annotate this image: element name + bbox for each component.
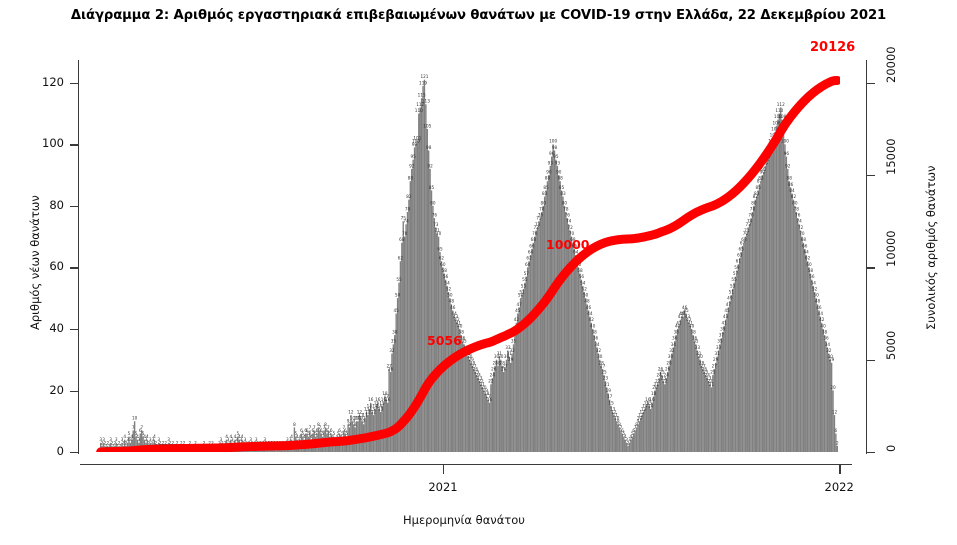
bar [735,277,736,452]
bar-value-label: 85 [559,185,565,190]
bar [480,384,481,452]
bar [469,360,470,452]
bar-value-label: 59 [734,265,740,270]
bar-value-label: 25 [710,369,716,374]
bar-value-label: 6 [835,428,838,433]
bar-value-label: 4 [130,434,133,439]
annotation-20126: 20126 [810,40,855,55]
bar-value-label: 13 [378,406,384,411]
bar-value-label: 74 [403,219,409,224]
bar-value-label: 19 [606,388,612,393]
bar [755,200,756,452]
bar [808,267,809,452]
bar [637,424,638,452]
bar [388,369,389,452]
chart-root: Διάγραμμα 2: Αριθμός εργαστηριακά επιβεβ… [0,0,957,545]
bar [374,409,375,452]
bar-value-label: 40 [689,323,695,328]
bar [584,292,585,452]
bar [640,418,641,452]
bar [837,446,838,452]
bar [528,261,529,452]
bar-value-label: 12 [832,409,838,414]
bar [811,280,812,452]
bar [828,354,829,452]
bar [627,446,628,452]
y-axis-right-title: Συνολικός αριθμός θανάτων [924,166,938,330]
bar [801,237,802,452]
bar-value-label: 74 [566,219,572,224]
bar [719,344,720,452]
x-axis-tick-label: 2022 [823,480,855,494]
bar [661,375,662,452]
bar-value-label: 32 [389,348,395,353]
bar [791,194,792,452]
bar [674,341,675,452]
bar-value-label: 72 [567,225,573,230]
bar [777,120,778,452]
bar [774,132,775,452]
bar [567,218,568,452]
bar [786,157,787,452]
bar [692,335,693,452]
bar [586,304,587,452]
bar [764,166,765,452]
bar-value-label: 88 [558,176,564,181]
bar-value-label: 47 [517,302,523,307]
bar [473,369,474,452]
bar [721,338,722,452]
bar-value-label: 100 [549,139,557,144]
bar-value-label: 35 [511,339,517,344]
bar-value-label: 85 [429,185,435,190]
bar-value-label: 86 [788,182,794,187]
bar-value-label: 47 [726,302,732,307]
bar-value-label: 34 [594,342,600,347]
bar-value-label: 110 [415,108,423,113]
bar-value-label: 8 [348,422,351,427]
bar-value-label: 88 [408,176,414,181]
bar [749,224,750,452]
bar [825,341,826,452]
bar-value-label: 55 [522,277,528,282]
bar [511,354,512,452]
bar-value-label: 95 [553,154,559,159]
bar [695,344,696,452]
bar-value-label: 35 [693,339,699,344]
bar [756,197,757,452]
bar [722,332,723,452]
bar-value-label: 57 [524,271,530,276]
bar-value-label: 38 [591,329,597,334]
bar [568,224,569,452]
bar [432,206,433,452]
bar-value-label: 35 [391,339,397,344]
bar [684,310,685,452]
bar [533,243,534,452]
y-axis-left-tick-label: 120 [24,75,64,89]
bar-value-label: 40 [820,323,826,328]
bar-value-label: 101 [413,136,421,141]
bar [685,314,686,452]
bar [506,360,507,452]
bar [651,403,652,452]
bar [800,230,801,452]
bar [644,409,645,452]
y-axis-right-tick-label: 0 [884,445,898,452]
bar [578,267,579,452]
bar [475,372,476,452]
bar-value-label: 12 [371,409,377,414]
bar-value-label: 50 [583,293,589,298]
bar [633,434,634,452]
bar [820,317,821,452]
bar [545,190,546,452]
bar [831,363,832,452]
bar-value-label: 56 [443,274,449,279]
bar [451,304,452,452]
bar [694,341,695,452]
bar [709,384,710,452]
bar-value-label: 32 [509,348,515,353]
bar-value-label: 115 [418,93,426,98]
bar [581,280,582,452]
y-axis-left-tick [70,452,78,453]
y-axis-left-tick-label: 20 [24,383,64,397]
bar [486,397,487,452]
bar [805,255,806,452]
x-axis-tick [839,465,840,474]
bar [369,409,370,452]
bar [743,243,744,452]
bar [557,166,558,452]
y-axis-left-tick [70,329,78,330]
bar [675,335,676,452]
bar [794,206,795,452]
bar-value-label: 43 [723,314,729,319]
bar [521,295,522,452]
bar [487,400,488,452]
bar [815,298,816,452]
bar [530,255,531,452]
bar [534,237,535,452]
page-title: Διάγραμμα 2: Αριθμός εργαστηριακά επιβεβ… [0,8,957,23]
bar [796,212,797,452]
y-axis-right-tick [867,267,875,268]
bar-value-label: 16 [487,397,493,402]
bar [555,160,556,452]
bar [643,412,644,452]
bar [677,329,678,452]
bar [558,175,559,452]
bar [726,314,727,452]
annotation-5056: 5056 [427,333,462,348]
bar-value-label: 98 [426,145,432,150]
bar-value-label: 93 [548,160,554,165]
bar-value-label: 36 [823,336,829,341]
bar-value-label: 62 [398,256,404,261]
bar-value-label: 54 [444,280,450,285]
y-axis-left-tick-label: 0 [24,444,64,458]
bar [639,421,640,452]
bar [649,406,650,452]
bar [733,283,734,452]
bar-value-label: 14 [648,403,654,408]
bar-value-label: 80 [541,200,547,205]
bar [817,304,818,452]
bar [582,286,583,452]
bar-value-label: 50 [447,293,453,298]
bar [803,243,804,452]
bar [718,350,719,452]
bar [554,150,555,452]
bar [666,378,667,452]
bar-value-label: 82 [791,194,797,199]
bar-value-label: 37 [719,333,725,338]
bar-value-label: 8 [354,422,357,427]
bar [468,357,469,452]
plot-area: 3232121321231213242353471054367543423234… [78,52,840,452]
bar [690,326,691,452]
bar-value-label: 10 [132,416,138,421]
bar-value-label: 25 [601,369,607,374]
bar-value-label: 92 [427,163,433,168]
bar [452,310,453,452]
bar-value-label: 93 [555,160,561,165]
bar-value-label: 110 [775,108,783,113]
bar [547,181,548,452]
bar [540,218,541,452]
bar-value-label: 50 [395,293,401,298]
bar [736,270,737,452]
bar [814,292,815,452]
bar-value-label: 95 [410,154,416,159]
bar-value-label: 78 [750,206,756,211]
bar [715,363,716,452]
bar-value-label: 35 [717,339,723,344]
bar [576,261,577,452]
bar-value-label: 26 [491,366,497,371]
bar [485,394,486,452]
y-axis-left-title: Αριθμός νέων θανάτων [28,195,42,330]
bar-value-label: 100 [781,139,789,144]
bar [753,206,754,452]
bar-value-label: 84 [789,188,795,193]
bar-value-label: 60 [440,262,446,267]
bar [592,329,593,452]
bar-value-label: 51 [729,289,735,294]
bar-value-label: 85 [543,185,549,190]
bar-value-label: 46 [816,305,822,310]
bar-value-label: 80 [792,200,798,205]
bar-value-label: 98 [552,145,558,150]
y-axis-left-tick [70,267,78,268]
bar [636,427,637,452]
bar-value-label: 20 [830,385,836,390]
bar [537,227,538,452]
bar [762,175,763,452]
bar [739,258,740,452]
bar-value-label: 4 [310,434,313,439]
bar [439,252,440,452]
bar [750,218,751,452]
x-axis-tick-label: 2021 [427,480,459,494]
bar [585,298,586,452]
bar [493,372,494,452]
annotation-10000: 10000 [546,237,590,252]
bar [509,357,510,452]
bar-value-label: 29 [508,357,514,362]
bar-value-label: 76 [565,213,571,218]
bar [680,320,681,452]
bar-value-label: 33 [695,345,701,350]
bar [742,246,743,452]
bar [759,184,760,452]
bar-value-label: 38 [690,329,696,334]
bar-value-label: 53 [730,283,736,288]
bar-value-label: 27 [502,363,508,368]
bar-value-label: 16 [649,397,655,402]
bar [746,234,747,452]
bar [494,366,495,452]
bar-value-label: 26 [388,366,394,371]
bar-value-label: 33 [716,345,722,350]
bar [472,366,473,452]
y-axis-right-tick [867,360,875,361]
bar [598,354,599,452]
bar-value-label: 41 [722,320,728,325]
bar [671,354,672,452]
bar-value-label: 41 [676,320,682,325]
bar-value-label: 83 [560,191,566,196]
bar [822,329,823,452]
bar [572,243,573,452]
bar [704,372,705,452]
bar [602,369,603,452]
bar [740,252,741,452]
bar [502,366,503,452]
bar [589,317,590,452]
bar [776,126,777,452]
bar [781,120,782,452]
bar [691,329,692,452]
bar-value-label: 48 [449,299,455,304]
bar-value-label: 48 [584,299,590,304]
bar-value-label: 23 [603,376,609,381]
bar [381,406,382,452]
bar [793,200,794,452]
y-axis-right-tick [867,175,875,176]
bar-value-label: 4 [303,434,306,439]
bar-value-label: 15 [608,400,614,405]
bar-value-label: 45 [394,308,400,313]
bar [617,424,618,452]
bar-value-label: 68 [741,237,747,242]
bar [760,181,761,452]
bar-value-label: 55 [731,277,737,282]
bar-value-label: 29 [829,357,835,362]
bar [442,267,443,452]
bar-value-label: 32 [669,348,675,353]
bar [779,114,780,452]
bar-value-label: 71 [744,228,750,233]
bar-value-label: 88 [758,176,764,181]
bar [588,310,589,452]
bar-value-label: 119 [419,80,427,85]
bar [523,289,524,452]
bar-value-label: 78 [563,206,569,211]
bar [752,212,753,452]
bar [708,381,709,452]
bar-value-label: 46 [586,305,592,310]
bar-value-label: 22 [662,379,668,384]
bar [772,144,773,452]
bar-value-label: 42 [514,317,520,322]
bar-value-label: 76 [538,213,544,218]
bar-value-label: 70 [569,231,575,236]
bar [551,157,552,452]
y-axis-right-tick [867,452,875,453]
bar [681,317,682,452]
bar [449,298,450,452]
bar-value-label: 72 [798,225,804,230]
bar-value-label: 58 [808,268,814,273]
bar [476,375,477,452]
bar [701,366,702,452]
bar [813,286,814,452]
bar-value-label: 8 [293,422,296,427]
bar [470,363,471,452]
bar [725,320,726,452]
bar [429,169,430,452]
bar [707,378,708,452]
bar [504,369,505,452]
bar-value-label: 65 [437,246,443,251]
bar-value-label: 70 [402,231,408,236]
bar-value-label: 40 [457,323,463,328]
bar [615,418,616,452]
bar [562,197,563,452]
bar-value-label: 55 [396,277,402,282]
bar-value-label: 92 [409,163,415,168]
bar-value-label: 31 [714,351,720,356]
bar [431,190,432,452]
bar-value-label: 35 [461,339,467,344]
bar-value-label: 52 [446,286,452,291]
y-axis-right-tick-label: 5000 [884,330,898,359]
bar [497,366,498,452]
bar [667,372,668,452]
bar [535,230,536,452]
bar [647,403,648,452]
bar-value-label: 105 [423,123,431,128]
y-axis-right-tick-label: 10000 [884,231,898,268]
bar-value-label: 88 [787,176,793,181]
bar [574,249,575,452]
bar [425,104,426,452]
bar [780,107,781,452]
bar-value-label: 24 [664,373,670,378]
bar [698,357,699,452]
bar-value-label: 30 [597,354,603,359]
bar-value-label: 48 [815,299,821,304]
bar-value-label: 64 [528,249,534,254]
bar [660,372,661,452]
bar [789,181,790,452]
bar [731,295,732,452]
bar [619,427,620,452]
bar [575,255,576,452]
